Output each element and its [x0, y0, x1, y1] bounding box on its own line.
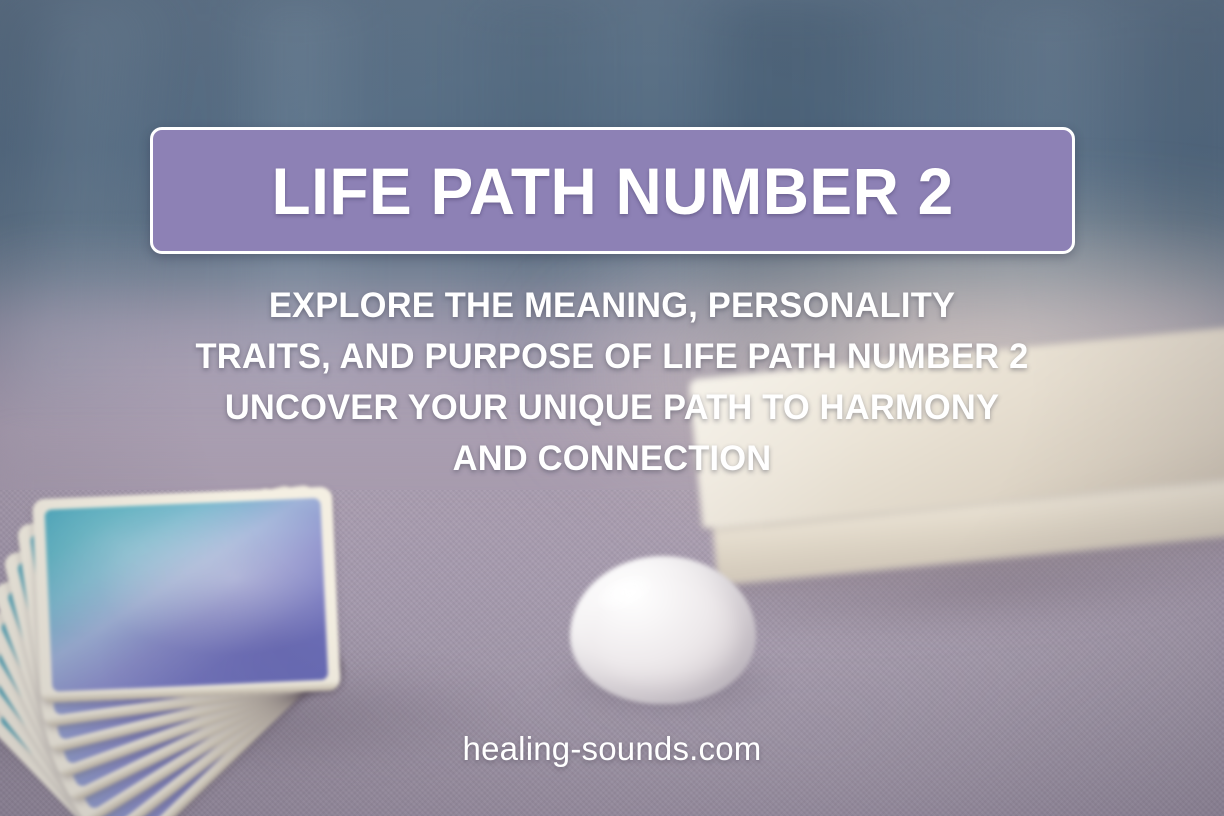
footer-website-url: healing-sounds.com [0, 730, 1224, 768]
subtitle-line-2: TRAITS, AND PURPOSE OF LIFE PATH NUMBER … [68, 331, 1155, 382]
title-banner: LIFE PATH NUMBER 2 [150, 127, 1075, 254]
subtitle-line-4: AND CONNECTION [68, 433, 1155, 484]
subtitle-line-1: EXPLORE THE MEANING, PERSONALITY [68, 280, 1155, 331]
text-overlay: LIFE PATH NUMBER 2 EXPLORE THE MEANING, … [0, 0, 1224, 816]
poster-canvas: LIFE PATH NUMBER 2 EXPLORE THE MEANING, … [0, 0, 1224, 816]
subtitle-line-3: UNCOVER YOUR UNIQUE PATH TO HARMONY [68, 382, 1155, 433]
subtitle-block: EXPLORE THE MEANING, PERSONALITY TRAITS,… [0, 280, 1224, 484]
page-title: LIFE PATH NUMBER 2 [271, 153, 953, 229]
